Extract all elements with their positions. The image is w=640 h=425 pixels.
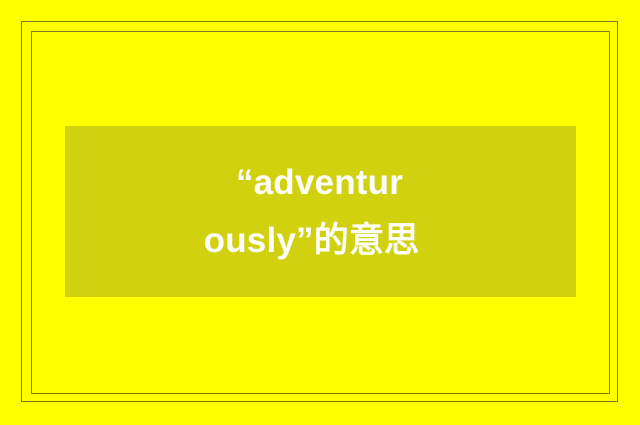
- title-line-2: ously”的意思: [204, 212, 420, 270]
- title-line-1: “adventur: [236, 154, 403, 212]
- title-card: “adventur ously”的意思: [65, 126, 576, 297]
- poster-canvas: “adventur ously”的意思: [0, 0, 640, 425]
